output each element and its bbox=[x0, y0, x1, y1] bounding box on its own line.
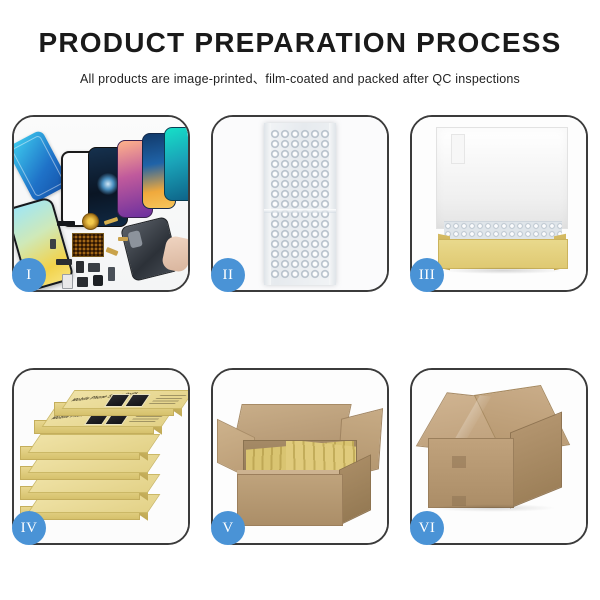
process-step-6[interactable]: VI bbox=[410, 368, 588, 545]
process-step-1[interactable]: I bbox=[12, 115, 190, 292]
step-badge-4: IV bbox=[12, 511, 46, 545]
carton-shadow bbox=[430, 504, 556, 512]
part-icon bbox=[56, 259, 72, 265]
process-grid: I II bbox=[12, 115, 588, 545]
mailer-lid-tab bbox=[451, 134, 465, 164]
part-icon bbox=[93, 275, 103, 286]
header: PRODUCT PREPARATION PROCESS All products… bbox=[0, 0, 600, 87]
step-badge-2: II bbox=[211, 258, 245, 292]
box-spec-lines bbox=[149, 394, 188, 404]
part-icon bbox=[50, 239, 56, 249]
carton-handle-notch bbox=[452, 456, 466, 468]
process-step-5[interactable]: V bbox=[211, 368, 389, 545]
carton-front-face bbox=[237, 474, 343, 526]
part-icon bbox=[88, 263, 100, 272]
page-subtitle: All products are image-printed、film-coat… bbox=[0, 68, 600, 87]
process-step-4[interactable]: Mobile Phone Spare Parts Mobile Phone Sp… bbox=[12, 368, 190, 545]
phone-teal-screen-icon bbox=[164, 127, 188, 201]
box-top bbox=[28, 434, 161, 453]
part-icon bbox=[77, 277, 88, 287]
stacked-box bbox=[20, 434, 152, 451]
pouch-edge-right bbox=[329, 123, 336, 285]
part-icon bbox=[108, 267, 115, 281]
box-stack-icon: Mobile Phone Spare Parts Mobile Phone Sp… bbox=[20, 386, 186, 536]
part-icon bbox=[76, 261, 84, 273]
pouch-seam bbox=[264, 209, 336, 213]
step-badge-1: I bbox=[12, 258, 46, 292]
mailer-base-icon bbox=[438, 239, 568, 269]
step-numeral: I bbox=[26, 267, 32, 284]
chip-array-icon bbox=[72, 233, 104, 257]
step-numeral: IV bbox=[21, 520, 38, 537]
poster-page: PRODUCT PREPARATION PROCESS All products… bbox=[0, 0, 600, 600]
page-title: PRODUCT PREPARATION PROCESS bbox=[0, 28, 600, 59]
step-numeral: VI bbox=[419, 520, 436, 537]
process-step-2[interactable]: II bbox=[211, 115, 389, 292]
gold-coil-icon bbox=[82, 213, 99, 230]
part-icon bbox=[118, 237, 128, 241]
part-icon bbox=[106, 247, 119, 256]
step-badge-6: VI bbox=[410, 511, 444, 545]
box-top: Mobile Phone Spare Parts bbox=[62, 390, 188, 409]
carton-front-face bbox=[428, 438, 514, 508]
step-numeral: V bbox=[222, 520, 233, 537]
process-step-3[interactable]: III bbox=[410, 115, 588, 292]
part-icon bbox=[57, 221, 75, 226]
stacked-box-labeled: Mobile Phone Spare Parts bbox=[54, 390, 186, 407]
bubble-pouch-icon bbox=[264, 123, 336, 285]
mailer-shadow bbox=[442, 267, 564, 274]
step-badge-5: V bbox=[211, 511, 245, 545]
step-numeral: II bbox=[223, 267, 234, 284]
step-badge-3: III bbox=[410, 258, 444, 292]
step-numeral: III bbox=[419, 267, 436, 284]
mailer-lid-icon bbox=[436, 127, 568, 229]
bubble-pattern bbox=[270, 129, 330, 279]
part-icon bbox=[62, 274, 73, 289]
